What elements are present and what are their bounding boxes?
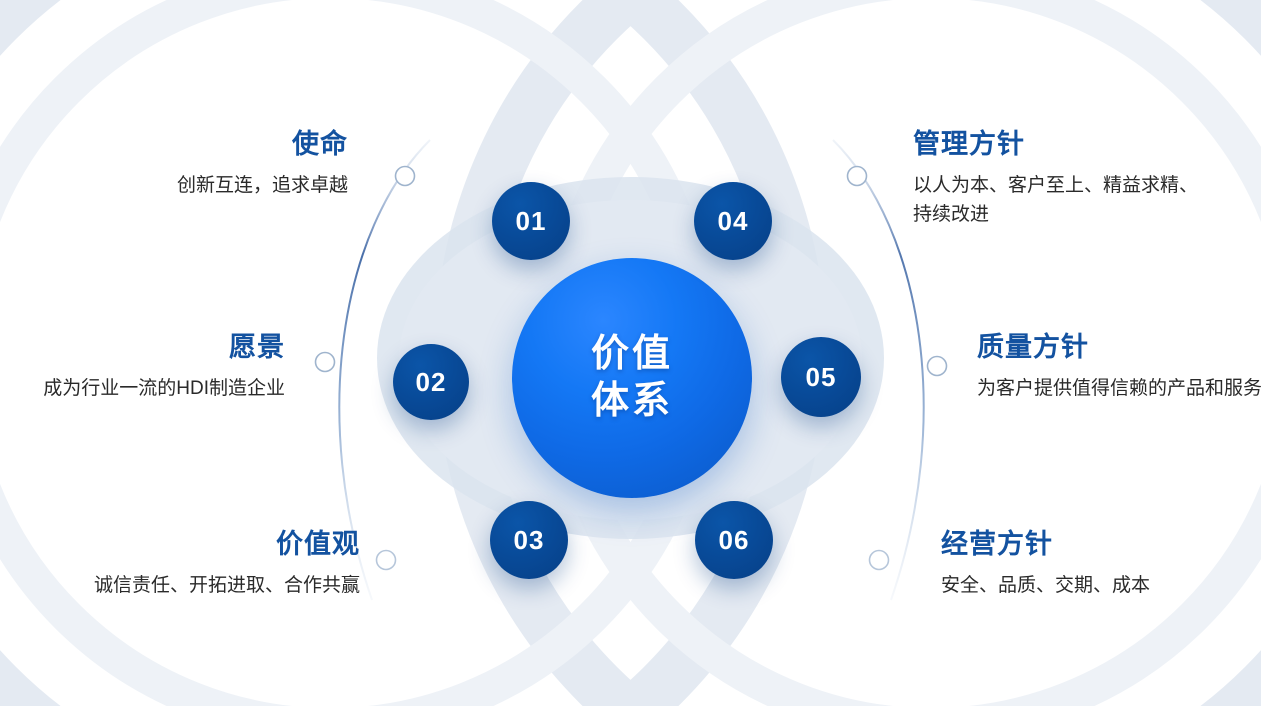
item-vision[interactable]: 愿景 成为行业一流的HDI制造企业	[0, 325, 285, 403]
item-business-policy-desc: 安全、品质、交期、成本	[941, 571, 1241, 600]
item-management-policy-title: 管理方针	[913, 122, 1213, 161]
arc-node-bottom-right	[870, 551, 889, 570]
item-vision-desc: 成为行业一流的HDI制造企业	[0, 374, 285, 403]
node-circle-03[interactable]: 03	[490, 501, 568, 579]
item-mission-title: 使命	[48, 122, 348, 161]
item-quality-policy-desc: 为客户提供值得信赖的产品和服务	[977, 374, 1261, 403]
item-quality-policy-title: 质量方针	[977, 325, 1261, 364]
center-core-circle: 价值 体系	[512, 258, 752, 498]
item-mission[interactable]: 使命 创新互连，追求卓越	[48, 122, 348, 200]
arc-node-mid-right	[928, 357, 947, 376]
center-title-line2: 体系	[591, 378, 673, 426]
center-title-line1: 价值	[591, 331, 673, 379]
node-circle-02[interactable]: 02	[393, 344, 469, 420]
node-label-03: 03	[514, 525, 545, 556]
item-values[interactable]: 价值观 诚信责任、开拓进取、合作共赢	[60, 522, 360, 600]
node-circle-05[interactable]: 05	[781, 337, 861, 417]
node-label-02: 02	[416, 367, 447, 398]
item-values-title: 价值观	[60, 522, 360, 561]
item-management-policy-desc: 以人为本、客户至上、精益求精、持续改进	[913, 171, 1213, 230]
item-mission-desc: 创新互连，追求卓越	[48, 171, 348, 200]
item-business-policy[interactable]: 经营方针 安全、品质、交期、成本	[941, 522, 1241, 600]
node-label-06: 06	[719, 525, 750, 556]
arc-node-top-left	[396, 167, 415, 186]
item-vision-title: 愿景	[0, 325, 285, 364]
node-label-01: 01	[516, 206, 547, 237]
node-circle-04[interactable]: 04	[694, 182, 772, 260]
node-label-04: 04	[718, 206, 749, 237]
arc-node-bottom-left	[377, 551, 396, 570]
item-business-policy-title: 经营方针	[941, 522, 1241, 561]
value-system-infographic: 价值 体系 01 02 03 04 05 06 使命 创新互连，追求卓越 愿景 …	[0, 0, 1261, 706]
arc-node-mid-left	[316, 353, 335, 372]
item-management-policy[interactable]: 管理方针 以人为本、客户至上、精益求精、持续改进	[913, 122, 1213, 230]
node-circle-06[interactable]: 06	[695, 501, 773, 579]
arc-node-top-right	[848, 167, 867, 186]
item-quality-policy[interactable]: 质量方针 为客户提供值得信赖的产品和服务	[977, 325, 1261, 403]
node-circle-01[interactable]: 01	[492, 182, 570, 260]
node-label-05: 05	[806, 362, 837, 393]
item-values-desc: 诚信责任、开拓进取、合作共赢	[60, 571, 360, 600]
